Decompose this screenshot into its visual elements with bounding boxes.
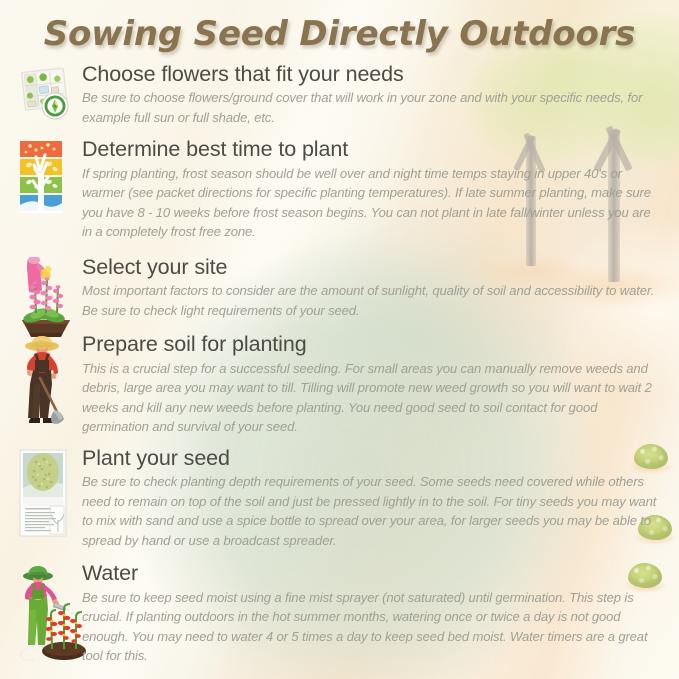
list-item: Select your site Most important factors … [0, 255, 679, 320]
step-title: Water [82, 561, 667, 586]
gardener-with-shovel-icon [14, 334, 80, 434]
gardener-watering-icon [14, 563, 80, 663]
step-title: Determine best time to plant [82, 137, 667, 162]
steps-list: Choose flowers that fit your needs Be su… [0, 62, 679, 666]
step-title: Select your site [82, 255, 667, 280]
list-item: Choose flowers that fit your needs Be su… [0, 62, 679, 127]
step-body: Most important factors to consider are t… [82, 281, 658, 320]
infographic-poster: Sowing Seed Directly Outdoors [0, 0, 679, 679]
seed-packet-icon [14, 448, 80, 540]
list-item: Plant your seed Be sure to check plantin… [0, 446, 679, 550]
step-body: If spring planting, frost season should … [82, 164, 658, 242]
step-body: This is a crucial step for a successful … [82, 359, 658, 437]
step-body: Be sure to keep seed moist using a fine … [82, 588, 658, 666]
garden-plan-map-icon [14, 64, 80, 126]
step-title: Plant your seed [82, 446, 667, 471]
step-title: Prepare soil for planting [82, 332, 667, 357]
step-body: Be sure to choose flowers/ground cover t… [82, 88, 658, 127]
step-title: Choose flowers that fit your needs [82, 62, 667, 87]
flower-bed-icon [14, 257, 80, 339]
four-seasons-icon [14, 139, 80, 213]
list-item: Water Be sure to keep seed moist using a… [0, 561, 679, 665]
step-body: Be sure to check planting depth requirem… [82, 472, 658, 550]
list-item: Determine best time to plant If spring p… [0, 137, 679, 241]
page-title: Sowing Seed Directly Outdoors [0, 14, 679, 54]
list-item: Prepare soil for planting This is a cruc… [0, 332, 679, 436]
